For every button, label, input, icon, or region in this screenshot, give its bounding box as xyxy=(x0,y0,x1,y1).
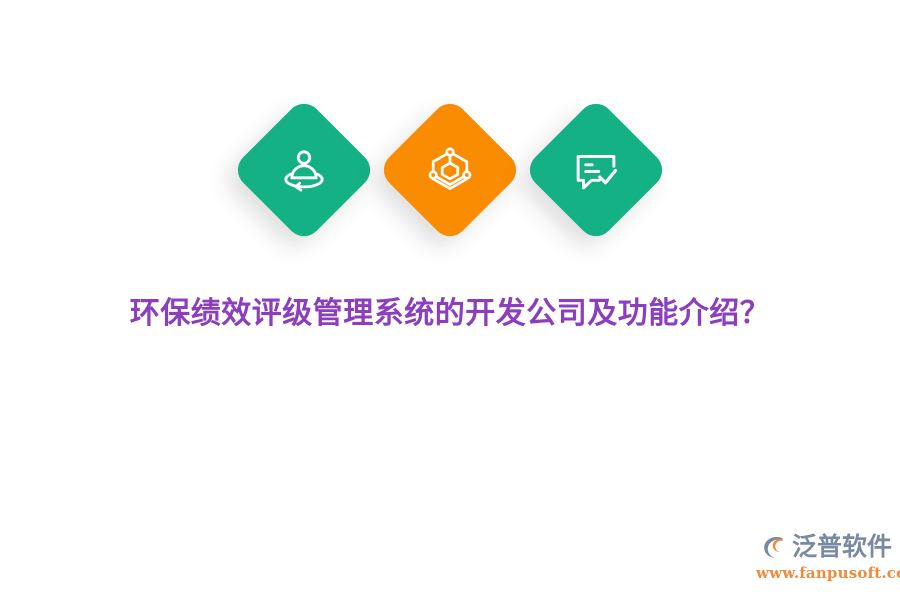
fanpu-logo-icon xyxy=(759,532,789,562)
user-orbit-icon xyxy=(278,144,330,196)
diamond-tile-review-approval xyxy=(522,96,669,243)
watermark-url: www.fanpusoft.com xyxy=(756,564,892,582)
watermark-brand-text: 泛普软件 xyxy=(792,532,892,562)
chat-check-icon xyxy=(570,144,622,196)
page-title: 环保绩效评级管理系统的开发公司及功能介绍？ xyxy=(0,292,900,336)
hexagon-network-icon xyxy=(424,144,476,196)
diamond-tile-user-management xyxy=(230,96,377,243)
diamond-tile-system-architecture xyxy=(376,96,523,243)
watermark-logo: 泛普软件 www.fanpusoft.com xyxy=(756,530,892,588)
poster-canvas: 环保绩效评级管理系统的开发公司及功能介绍？ 泛普软件 www.fanpusoft… xyxy=(0,0,900,600)
watermark-brand-row: 泛普软件 xyxy=(756,530,892,564)
icon-row xyxy=(0,118,900,222)
